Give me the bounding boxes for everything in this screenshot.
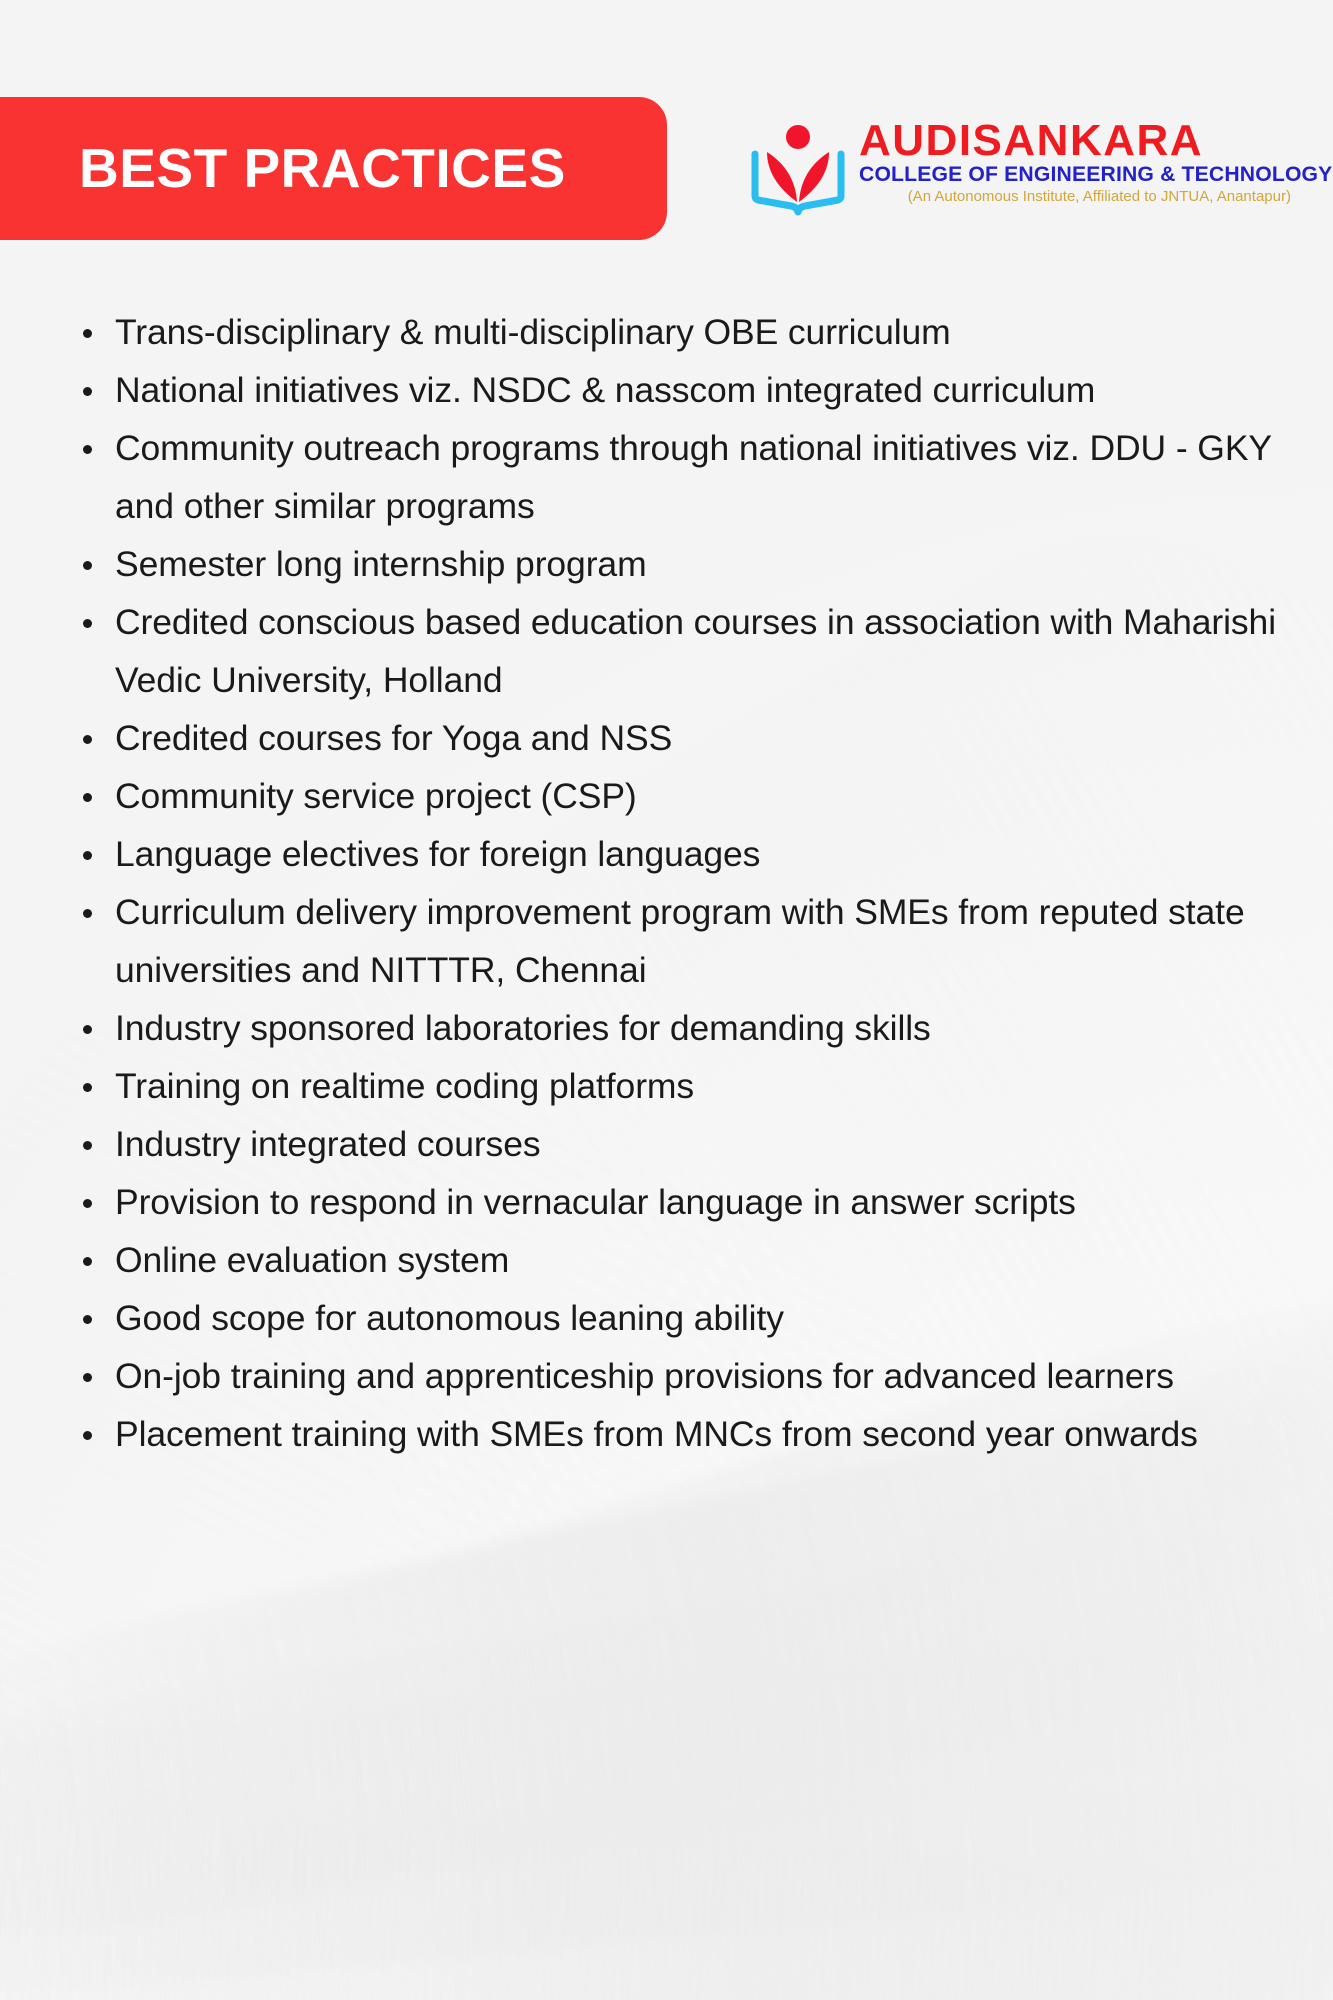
list-item: Community outreach programs through nati…: [0, 419, 1333, 535]
content-area: Trans-disciplinary & multi-disciplinary …: [0, 303, 1333, 1463]
lotus-book-emblem-icon: [745, 122, 851, 218]
slide-root: BEST PRACTICES AUDISANKARA COLLEGE OF EN…: [0, 0, 1333, 2000]
list-item: Community service project (CSP): [0, 767, 1333, 825]
list-item: Curriculum delivery improvement program …: [0, 883, 1333, 999]
institution-logo: AUDISANKARA COLLEGE OF ENGINEERING & TEC…: [745, 120, 1275, 225]
background-swoosh: [0, 1471, 1333, 1989]
list-item: Credited courses for Yoga and NSS: [0, 709, 1333, 767]
list-item: Online evaluation system: [0, 1231, 1333, 1289]
logo-wordmark: AUDISANKARA COLLEGE OF ENGINEERING & TEC…: [859, 120, 1333, 207]
list-item: National initiatives viz. NSDC & nasscom…: [0, 361, 1333, 419]
list-item: On-job training and apprenticeship provi…: [0, 1347, 1333, 1405]
institution-affiliation: (An Autonomous Institute, Affiliated to …: [859, 187, 1333, 207]
institution-subtitle: COLLEGE OF ENGINEERING & TECHNOLOGY: [859, 162, 1332, 187]
list-item: Semester long internship program: [0, 535, 1333, 593]
slide-header: BEST PRACTICES AUDISANKARA COLLEGE OF EN…: [0, 0, 1333, 250]
list-item: Trans-disciplinary & multi-disciplinary …: [0, 303, 1333, 361]
list-item: Placement training with SMEs from MNCs f…: [0, 1405, 1333, 1463]
list-item: Industry integrated courses: [0, 1115, 1333, 1173]
background-swoosh: [0, 1760, 1333, 2000]
list-item: Training on realtime coding platforms: [0, 1057, 1333, 1115]
background-swoosh: [0, 1768, 1333, 2000]
list-item: Credited conscious based education cours…: [0, 593, 1333, 709]
best-practices-list: Trans-disciplinary & multi-disciplinary …: [0, 303, 1333, 1463]
list-item: Language electives for foreign languages: [0, 825, 1333, 883]
background-swoosh: [0, 1600, 1333, 2000]
page-title: BEST PRACTICES: [79, 141, 566, 196]
list-item: Provision to respond in vernacular langu…: [0, 1173, 1333, 1231]
list-item: Good scope for autonomous leaning abilit…: [0, 1289, 1333, 1347]
list-item: Industry sponsored laboratories for dema…: [0, 999, 1333, 1057]
institution-name: AUDISANKARA: [859, 120, 1333, 162]
title-banner: BEST PRACTICES: [0, 97, 667, 240]
